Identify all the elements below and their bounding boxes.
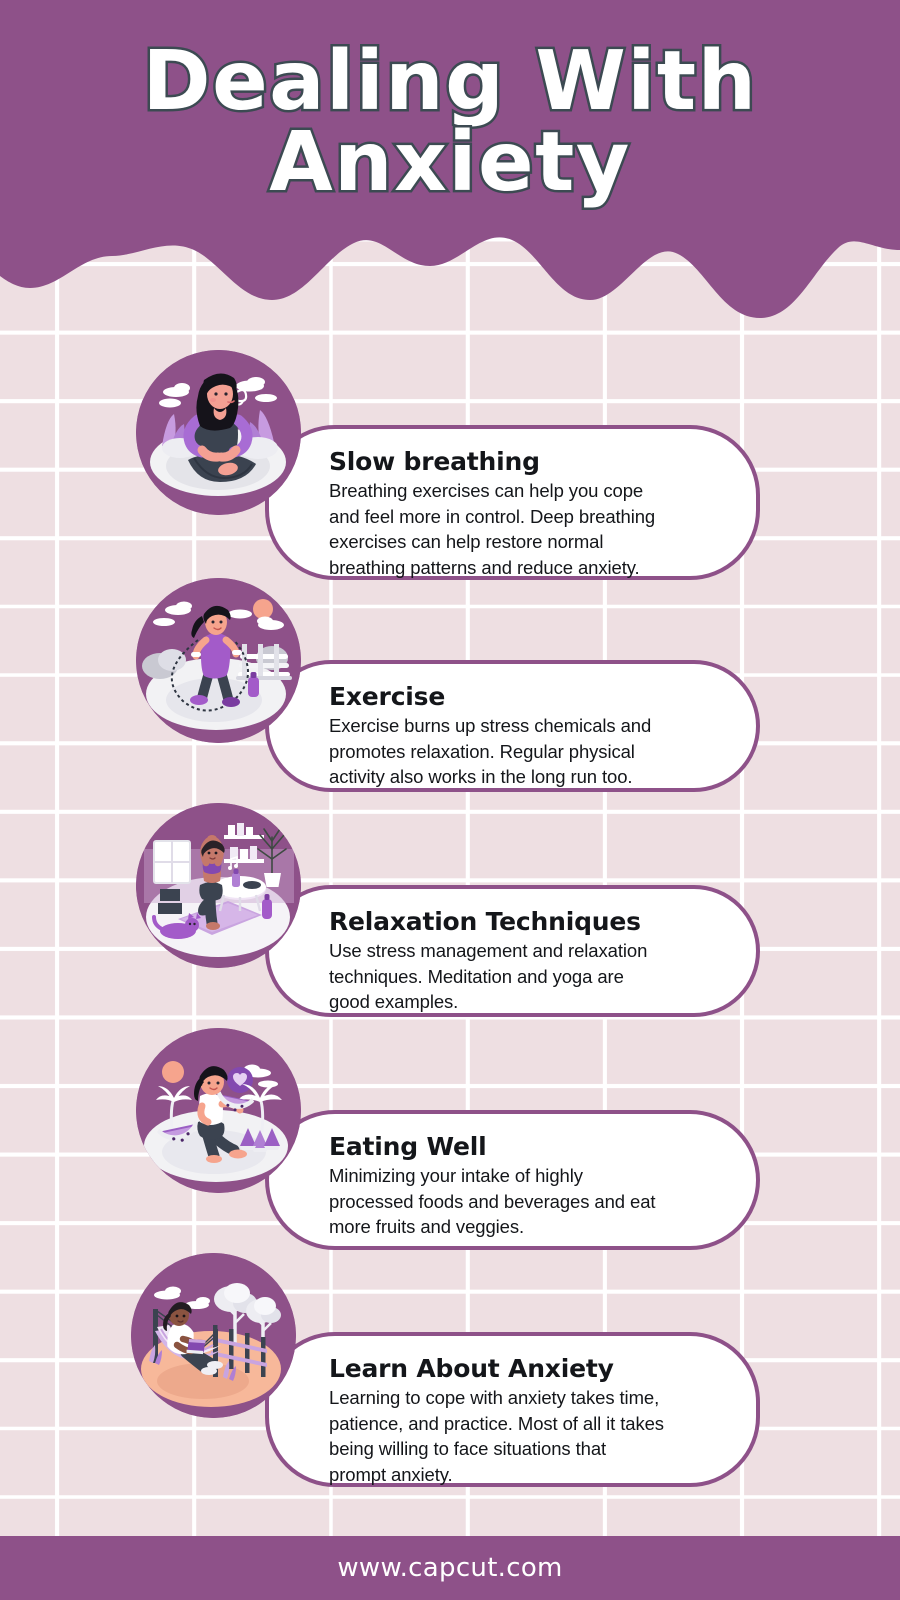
tip-body-2: Exercise burns up stress chemicals and p…	[329, 713, 710, 790]
tip-card-4[interactable]: Eating Well Minimizing your intake of hi…	[265, 1110, 760, 1250]
tip-body-5: Learning to cope with anxiety takes time…	[329, 1385, 710, 1487]
footer-bar: www.capcut.com	[0, 1536, 900, 1600]
meditation-illustration	[136, 350, 301, 515]
tips-list: Slow breathing Breathing exercises can h…	[0, 0, 900, 1600]
yoga-illustration	[136, 803, 301, 968]
infographic-poster: Dealing With Anxiety Slow breathing Brea…	[0, 0, 900, 1600]
tip-title-4: Eating Well	[329, 1132, 710, 1161]
reading-hammock-icon	[131, 1253, 296, 1418]
reading-hammock-illustration	[131, 1253, 296, 1418]
tip-body-1: Breathing exercises can help you cope an…	[329, 478, 710, 580]
tip-title-3: Relaxation Techniques	[329, 907, 710, 936]
healthy-eating-icon	[136, 1028, 301, 1193]
footer-url[interactable]: www.capcut.com	[337, 1553, 562, 1583]
tip-body-3: Use stress management and relaxation tec…	[329, 938, 710, 1015]
tip-card-3[interactable]: Relaxation Techniques Use stress managem…	[265, 885, 760, 1017]
tip-card-2[interactable]: Exercise Exercise burns up stress chemic…	[265, 660, 760, 792]
tip-title-5: Learn About Anxiety	[329, 1354, 710, 1383]
tip-title-2: Exercise	[329, 682, 710, 711]
yoga-icon	[136, 803, 301, 968]
tip-card-1[interactable]: Slow breathing Breathing exercises can h…	[265, 425, 760, 580]
tip-body-4: Minimizing your intake of highly process…	[329, 1163, 710, 1240]
healthy-eating-illustration	[136, 1028, 301, 1193]
meditation-icon	[136, 350, 301, 515]
tip-title-1: Slow breathing	[329, 447, 710, 476]
jump-rope-icon	[136, 578, 301, 743]
jump-rope-illustration	[136, 578, 301, 743]
tip-card-5[interactable]: Learn About Anxiety Learning to cope wit…	[265, 1332, 760, 1487]
